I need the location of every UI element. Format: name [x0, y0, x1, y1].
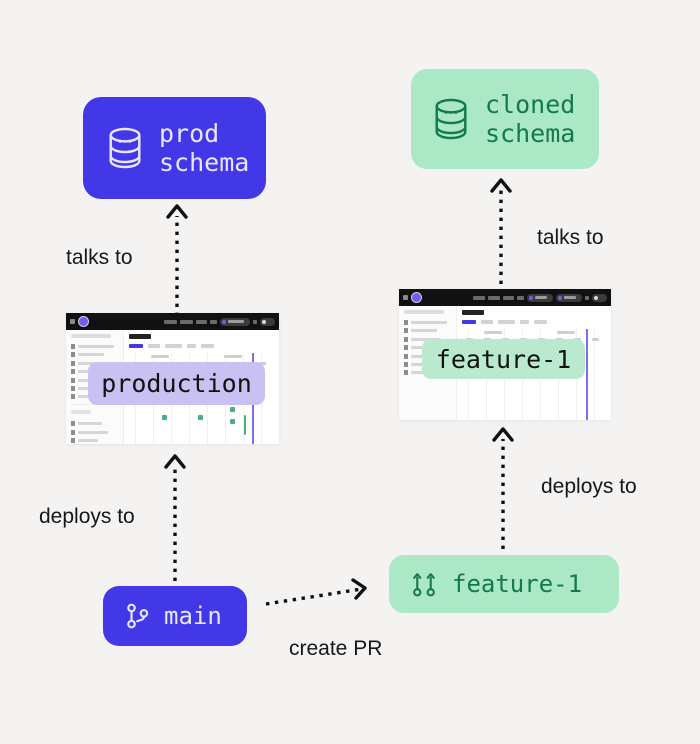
node-feature-branch-label: feature-1: [452, 570, 582, 598]
edge-label-talks-to-right: talks to: [537, 226, 604, 250]
nav-item[interactable]: [488, 296, 500, 300]
git-pull-request-icon: [411, 570, 438, 599]
menu-icon[interactable]: [403, 295, 408, 300]
node-prod-schema[interactable]: prod schema: [83, 97, 266, 199]
arrow-create-pr: [264, 578, 379, 610]
sidebar-item[interactable]: [71, 438, 119, 443]
edge-label-deploys-to-right: deploys to: [541, 475, 637, 499]
tab[interactable]: [201, 344, 214, 348]
overlay-label-production: production: [88, 362, 265, 405]
panel-title: [129, 334, 151, 339]
tab[interactable]: [534, 320, 547, 324]
user-avatar[interactable]: [260, 318, 275, 326]
node-cloned-schema[interactable]: cloned schema: [411, 69, 599, 169]
node-feature-branch[interactable]: feature-1: [389, 555, 619, 613]
node-prod-schema-label: prod schema: [159, 119, 249, 178]
sidebar-item[interactable]: [71, 344, 119, 349]
nav-icon[interactable]: [585, 296, 589, 300]
panel-title: [462, 310, 484, 315]
sidebar-group-title: [71, 410, 91, 414]
edge-label-deploys-to-left: deploys to: [39, 505, 135, 529]
sidebar-header: [404, 310, 444, 314]
tab[interactable]: [481, 320, 493, 324]
arrow-talks-to-left: [163, 200, 191, 318]
nav-item[interactable]: [180, 320, 193, 324]
tab[interactable]: [148, 344, 160, 348]
git-branch-icon: [125, 602, 151, 630]
arrow-talks-to-right: [487, 174, 515, 286]
nav-item[interactable]: [517, 296, 524, 300]
app-logo: [78, 316, 89, 327]
environment-chip[interactable]: [220, 318, 250, 326]
tab[interactable]: [187, 344, 196, 348]
edge-label-create-pr: create PR: [289, 637, 382, 661]
app-logo: [411, 292, 422, 303]
nav-item[interactable]: [473, 296, 485, 300]
nav-item[interactable]: [196, 320, 207, 324]
environment-chip[interactable]: [527, 294, 553, 302]
database-icon: [431, 96, 471, 142]
database-icon: [105, 125, 145, 171]
sidebar-item[interactable]: [71, 352, 119, 357]
arrow-deploys-to-left: [161, 450, 189, 583]
user-avatar[interactable]: [592, 294, 607, 302]
tab[interactable]: [462, 320, 476, 324]
nav-item[interactable]: [210, 320, 217, 324]
mock-topbar: [66, 313, 279, 330]
tab[interactable]: [129, 344, 143, 348]
nav-icon[interactable]: [253, 320, 257, 324]
sidebar-item[interactable]: [404, 328, 452, 333]
panel-tabs: [462, 320, 608, 324]
sidebar-header: [71, 334, 111, 338]
tab[interactable]: [165, 344, 182, 348]
mock-topbar: [399, 289, 611, 306]
sidebar-item[interactable]: [404, 320, 452, 325]
time-cursor: [586, 329, 588, 421]
node-main-branch[interactable]: main: [103, 586, 247, 646]
tab[interactable]: [520, 320, 529, 324]
node-main-branch-label: main: [164, 602, 222, 630]
overlay-label-feature: feature-1: [422, 339, 585, 379]
menu-icon[interactable]: [70, 319, 75, 324]
sidebar-item[interactable]: [71, 421, 119, 426]
diagram-canvas: prod schema cloned schema: [0, 0, 700, 744]
panel-tabs: [129, 344, 276, 348]
arrow-deploys-to-right: [489, 423, 517, 551]
branch-chip[interactable]: [556, 294, 582, 302]
nav-item[interactable]: [503, 296, 514, 300]
node-cloned-schema-label: cloned schema: [485, 90, 575, 149]
edge-label-talks-to-left: talks to: [66, 246, 133, 270]
sidebar-item[interactable]: [71, 430, 119, 435]
tab[interactable]: [498, 320, 515, 324]
nav-item[interactable]: [164, 320, 177, 324]
